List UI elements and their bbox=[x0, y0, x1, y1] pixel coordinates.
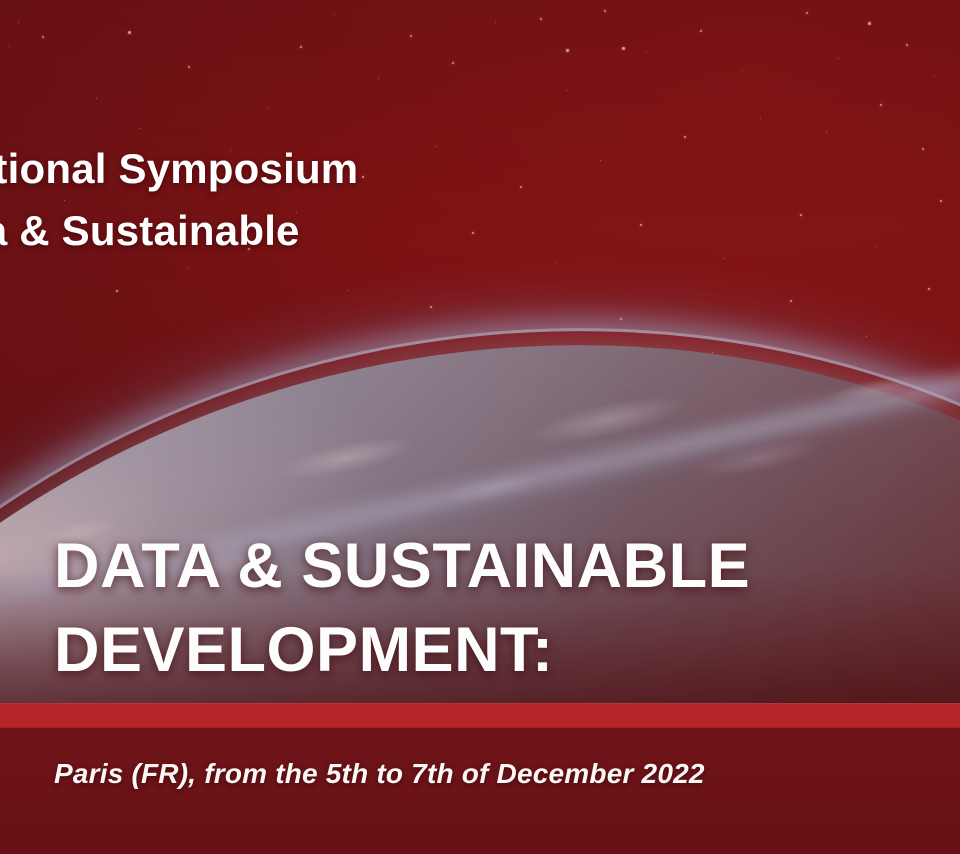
event-date-location: Paris (FR), from the 5th to 7th of Decem… bbox=[54, 758, 705, 790]
eyebrow-line-2: on Data & Sustainable bbox=[0, 200, 358, 262]
eyebrow-line-1: International Symposium bbox=[0, 145, 358, 192]
footer-panel bbox=[0, 728, 960, 854]
page-title: DATA & SUSTAINABLE DEVELOPMENT: bbox=[54, 524, 954, 692]
event-banner: International Symposium on Data & Sustai… bbox=[0, 0, 960, 854]
symposium-eyebrow-text: International Symposium on Data & Sustai… bbox=[0, 138, 358, 262]
accent-divider-band bbox=[0, 703, 960, 728]
headline-line-1: DATA & SUSTAINABLE bbox=[54, 524, 954, 608]
headline-line-2: DEVELOPMENT: bbox=[54, 608, 954, 692]
